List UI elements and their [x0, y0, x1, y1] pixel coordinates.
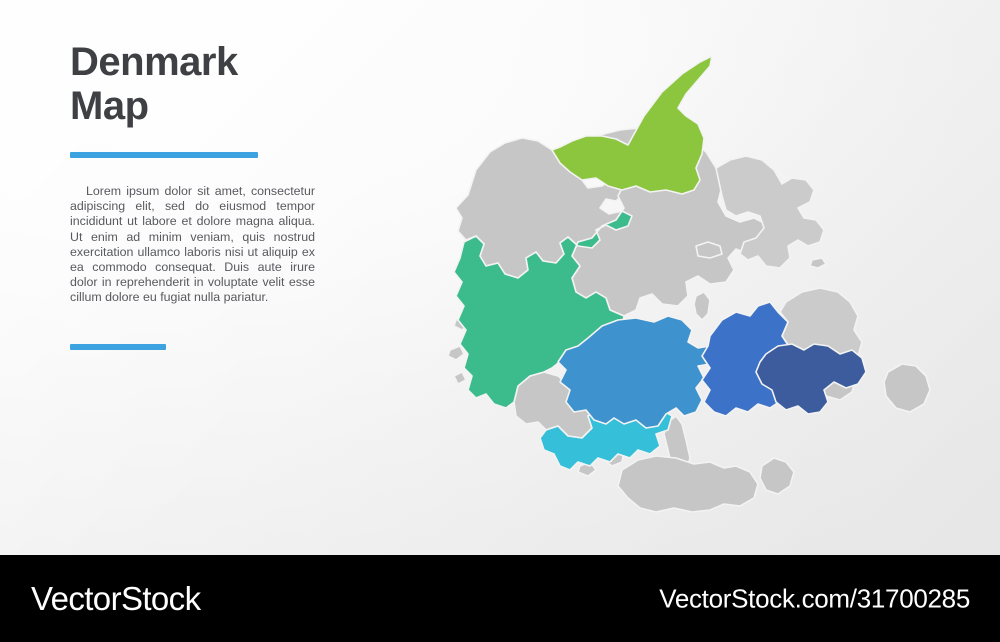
watermark-brand: VectorStock — [31, 580, 201, 618]
map-svg — [410, 20, 990, 545]
region-moen — [760, 458, 794, 494]
watermark-bar: VectorStock VectorStock.com/31700285 — [0, 555, 1000, 642]
poster-canvas: Denmark Map Lorem ipsum dolor sit amet, … — [0, 0, 1000, 642]
region-samsoe — [694, 292, 710, 320]
body-paragraph: Lorem ipsum dolor sit amet, consectetur … — [70, 184, 315, 306]
title-line-1: Denmark — [70, 40, 315, 84]
region-anholt — [810, 258, 826, 268]
denmark-map — [410, 20, 990, 545]
watermark-url: VectorStock.com/31700285 — [659, 583, 970, 614]
title-line-2: Map — [70, 84, 315, 128]
region-bornholm — [884, 364, 930, 412]
accent-rule-primary — [70, 152, 258, 158]
accent-rule-secondary — [70, 344, 166, 350]
region-north-jutland[interactable] — [552, 56, 712, 194]
page-title: Denmark Map — [70, 40, 315, 128]
region-lolland-falster — [618, 456, 758, 512]
text-column: Denmark Map Lorem ipsum dolor sit amet, … — [70, 40, 315, 350]
poster-background: Denmark Map Lorem ipsum dolor sit amet, … — [0, 0, 1000, 555]
